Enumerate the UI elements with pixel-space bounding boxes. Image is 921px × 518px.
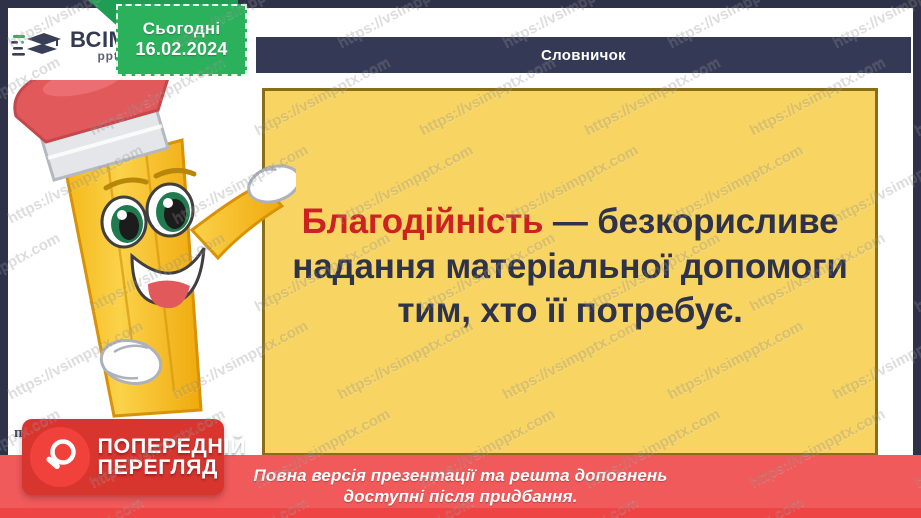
presentation-slide: ВСІМ pptx Сьогодні 16.02.2024 Словничок … [0, 0, 921, 518]
watermark-text: https://vsimpptx.com [912, 54, 921, 140]
graduation-cap-icon [11, 30, 65, 62]
date-badge-label: Сьогодні [143, 19, 221, 40]
definition-text: Благодійність — безкорисливе надання мат… [287, 200, 853, 334]
purchase-notice-line-2: доступні після придбання. [344, 487, 578, 507]
date-badge-value: 16.02.2024 [135, 39, 227, 61]
preview-badge-line-2: ПЕРЕГЛЯД [98, 457, 247, 478]
watermark-text: https://vsimpptx.com [912, 230, 921, 316]
slide-header-bar: Словничок [256, 37, 911, 73]
banner-bottom-strip [0, 508, 921, 518]
preview-badge: ПОПЕРЕДНІЙ ПЕРЕГЛЯД [22, 419, 224, 495]
preview-badge-labels: ПОПЕРЕДНІЙ ПЕРЕГЛЯД [99, 436, 245, 479]
pencil-mascot-icon [0, 80, 296, 450]
preview-badge-line-1: ПОПЕРЕДНІЙ [98, 436, 247, 457]
purchase-notice-line-1: Повна версія презентації та решта доповн… [254, 466, 668, 486]
slide-title: Словничок [541, 47, 626, 64]
brand-logo: ВСІМ pptx [11, 30, 127, 62]
definition-term: Благодійність [302, 202, 544, 241]
definition-dash: — [543, 202, 597, 241]
definition-card: Благодійність — безкорисливе надання мат… [262, 88, 878, 456]
today-date-badge: Сьогодні 16.02.2024 [116, 4, 247, 76]
magnifier-icon [30, 427, 90, 487]
